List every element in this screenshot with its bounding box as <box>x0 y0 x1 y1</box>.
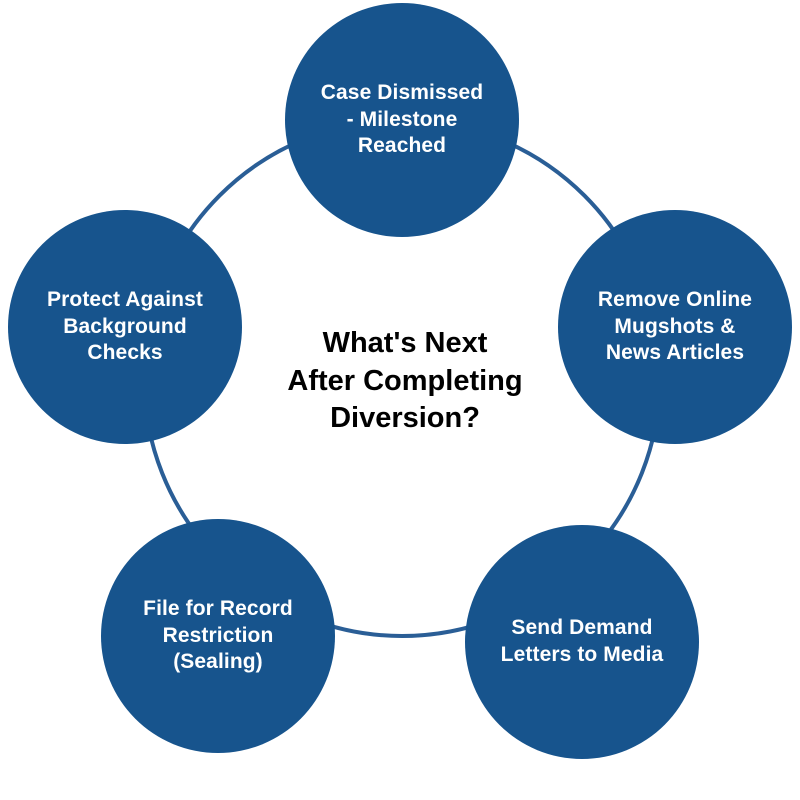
node-send-demand-letters[interactable]: Send Demand Letters to Media <box>465 525 699 759</box>
diagram-center-title: What's Next After Completing Diversion? <box>262 325 548 438</box>
node-case-dismissed-label: Case Dismissed - Milestone Reached <box>304 80 500 161</box>
node-send-demand-letters-label: Send Demand Letters to Media <box>484 615 680 669</box>
node-case-dismissed[interactable]: Case Dismissed - Milestone Reached <box>285 3 519 237</box>
node-remove-online-mugshots[interactable]: Remove Online Mugshots & News Articles <box>558 210 792 444</box>
node-protect-background-checks[interactable]: Protect Against Background Checks <box>8 210 242 444</box>
node-remove-online-mugshots-label: Remove Online Mugshots & News Articles <box>577 287 773 368</box>
node-protect-background-checks-label: Protect Against Background Checks <box>27 287 223 368</box>
cycle-diagram: Case Dismissed - Milestone Reached Remov… <box>0 0 800 800</box>
node-file-record-restriction[interactable]: File for Record Restriction (Sealing) <box>101 519 335 753</box>
node-file-record-restriction-label: File for Record Restriction (Sealing) <box>120 596 316 677</box>
